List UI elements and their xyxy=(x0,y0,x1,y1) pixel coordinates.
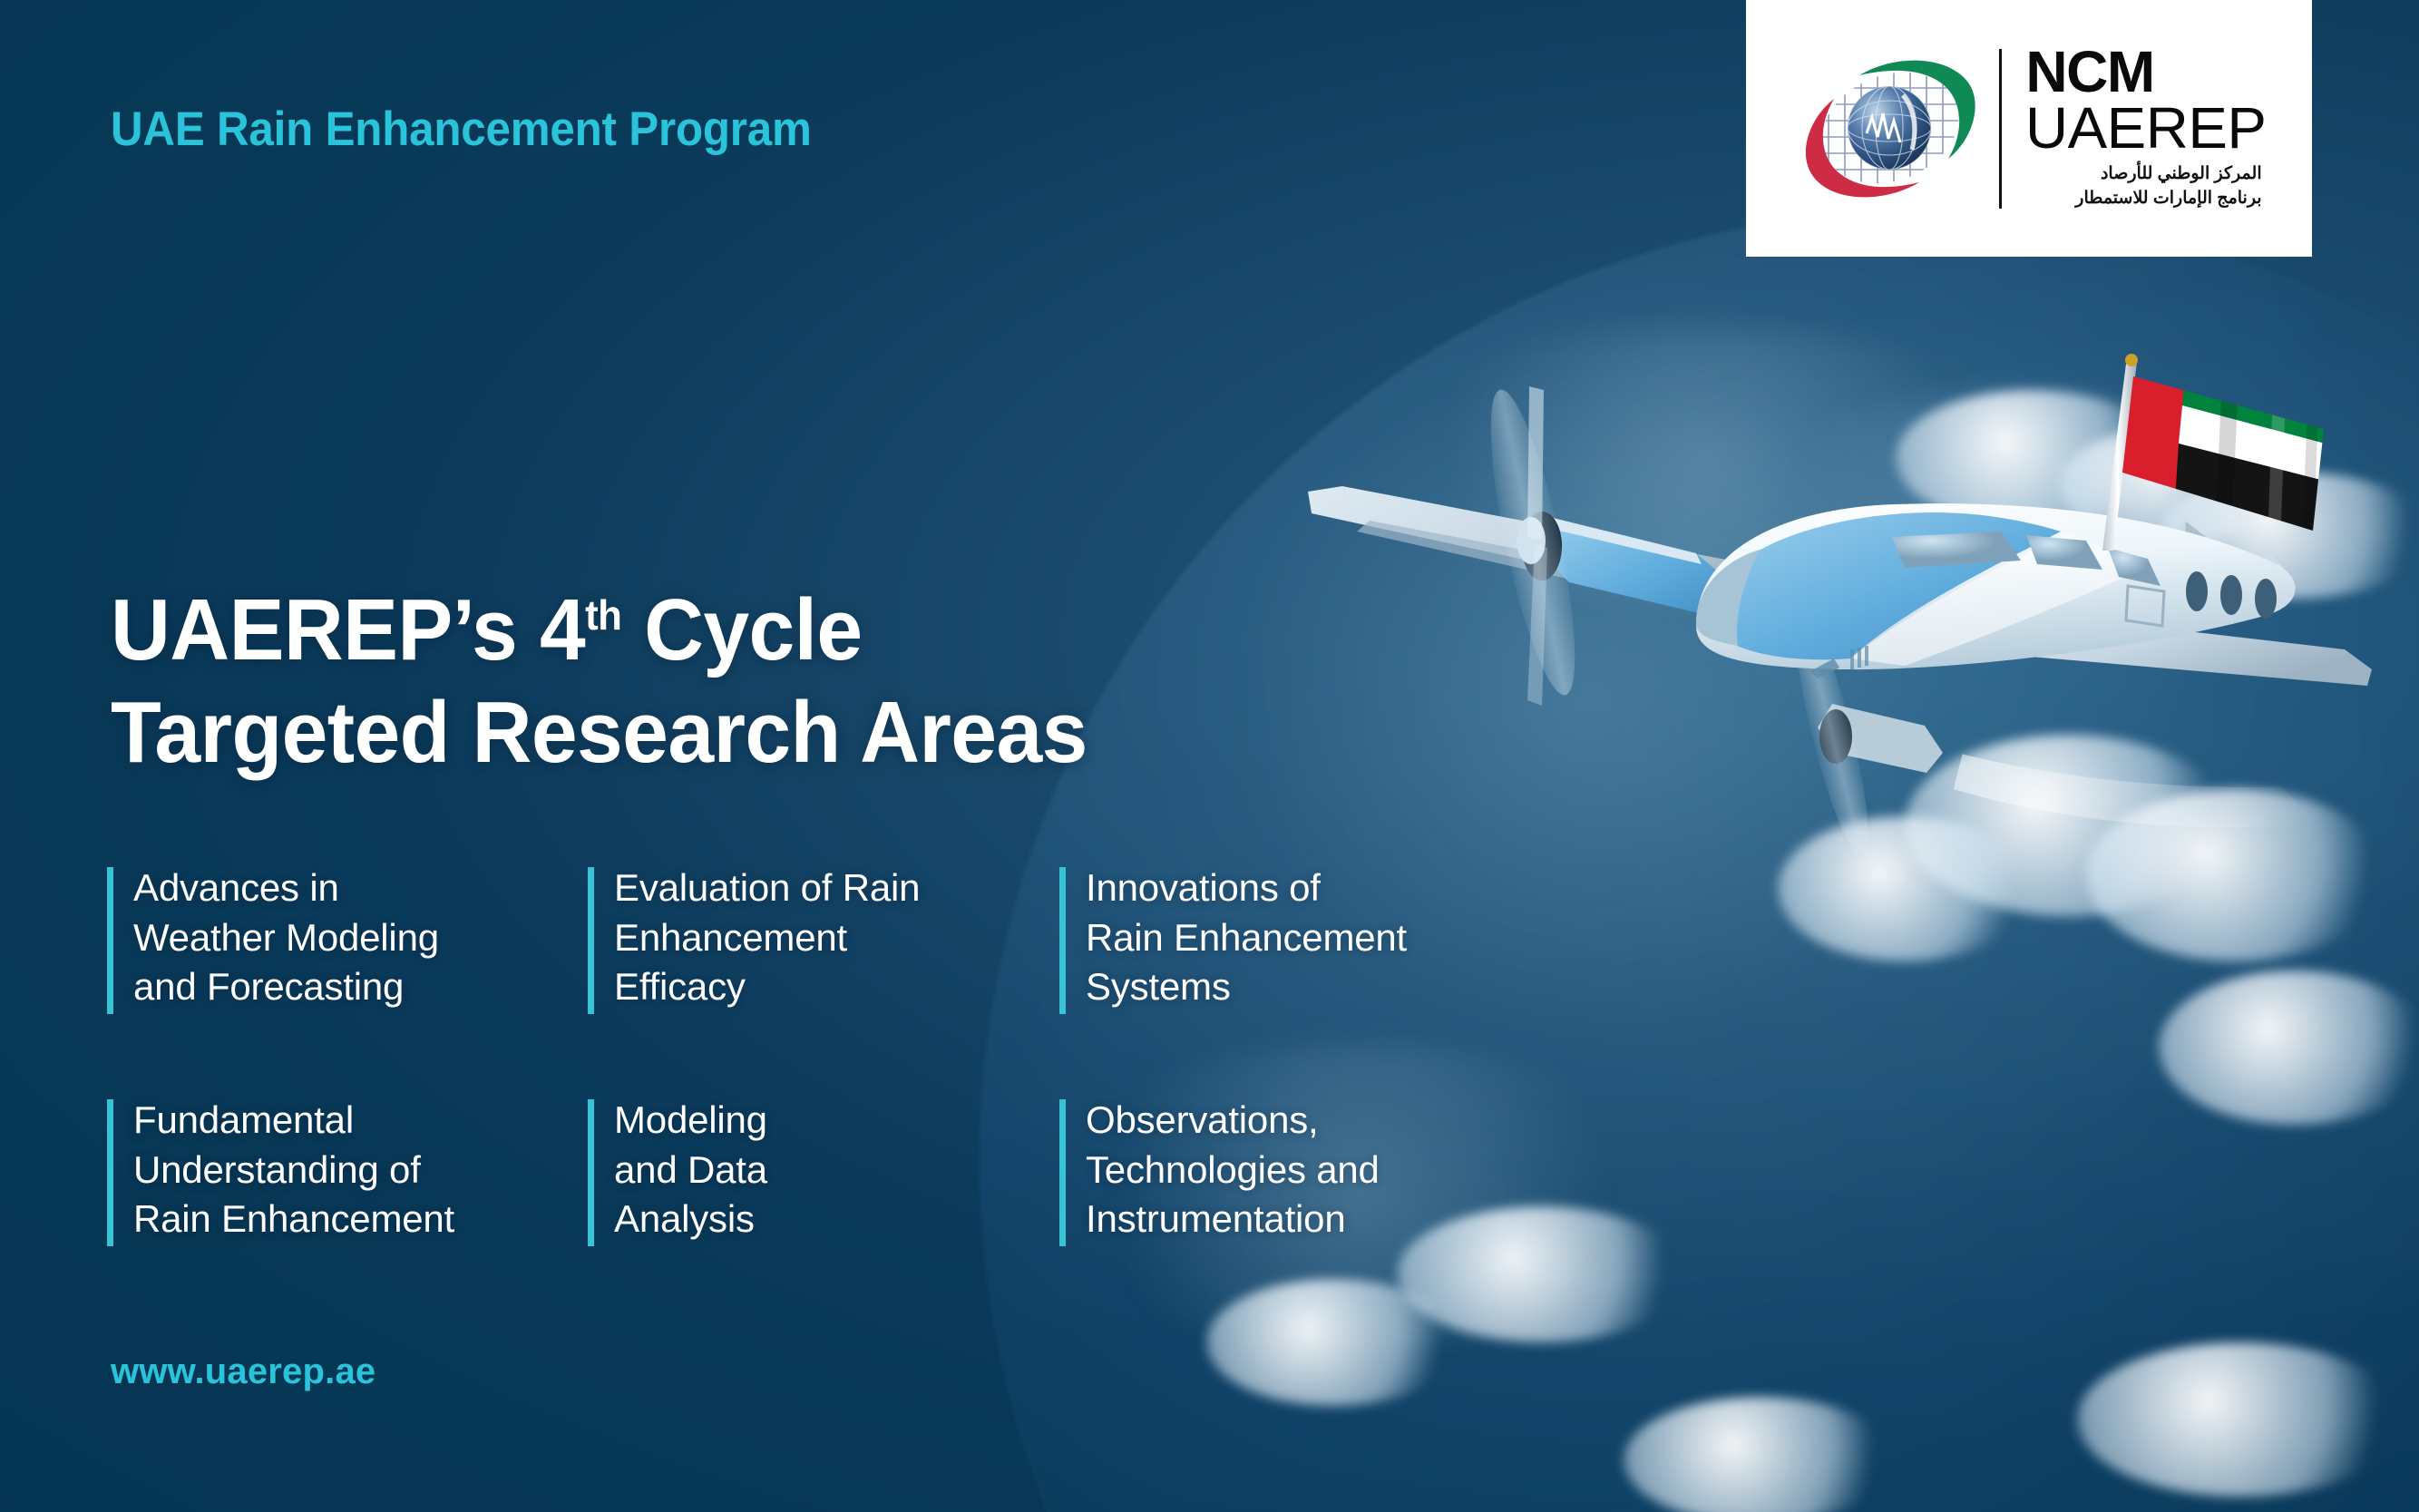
research-area-item: Fundamental Understanding of Rain Enhanc… xyxy=(107,1096,588,1246)
headline-line-1: UAEREP’s 4th Cycle xyxy=(111,579,1088,681)
research-area-label: Innovations of Rain Enhancement Systems xyxy=(1086,863,1407,1012)
headline-prefix: UAEREP’s 4 xyxy=(111,581,585,678)
headline-line-2: Targeted Research Areas xyxy=(111,681,1088,784)
page-title: UAEREP’s 4th Cycle Targeted Research Are… xyxy=(111,579,1088,785)
research-area-label: Fundamental Understanding of Rain Enhanc… xyxy=(133,1096,454,1244)
ncm-globe-swoosh-icon xyxy=(1796,44,1983,213)
accent-bar-icon xyxy=(1059,1099,1066,1246)
cloud-puff xyxy=(2077,1342,2404,1497)
cloud-puff xyxy=(1624,1397,1896,1512)
research-area-label: Observations, Technologies and Instrumen… xyxy=(1086,1096,1380,1244)
logo-arabic-line1: المركز الوطني للأرصاد xyxy=(2025,161,2261,187)
headline-suffix: Cycle xyxy=(621,581,862,678)
headline-superscript: th xyxy=(585,591,621,639)
research-area-item: Evaluation of Rain Enhancement Efficacy xyxy=(588,863,1059,1014)
logo-arabic-line2: برنامج الإمارات للاستمطار xyxy=(2025,186,2261,211)
accent-bar-icon xyxy=(588,867,594,1014)
accent-bar-icon xyxy=(588,1099,594,1246)
accent-bar-icon xyxy=(107,867,113,1014)
research-area-item: Observations, Technologies and Instrumen… xyxy=(1059,1096,1567,1246)
poster-canvas: UAE Rain Enhancement Program xyxy=(0,0,2419,1512)
ncm-uaerep-logo[interactable]: NCM UAEREP المركز الوطني للأرصاد برنامج … xyxy=(1746,0,2312,257)
accent-bar-icon xyxy=(107,1099,113,1246)
accent-bar-icon xyxy=(1059,867,1066,1014)
logo-ncm-text: NCM xyxy=(2025,45,2261,99)
logo-wordmark: NCM UAEREP المركز الوطني للأرصاد برنامج … xyxy=(2025,45,2261,211)
website-link[interactable]: www.uaerep.ae xyxy=(111,1351,376,1392)
logo-divider xyxy=(1999,49,2002,209)
research-area-label: Evaluation of Rain Enhancement Efficacy xyxy=(614,863,920,1012)
research-areas-grid: Advances in Weather Modeling and Forecas… xyxy=(107,863,1613,1246)
research-area-label: Modeling and Data Analysis xyxy=(614,1096,767,1244)
logo-uaerep-text: UAEREP xyxy=(2025,99,2266,157)
uae-flag xyxy=(2086,349,2367,558)
research-area-item: Modeling and Data Analysis xyxy=(588,1096,1059,1246)
program-title: UAE Rain Enhancement Program xyxy=(111,102,812,157)
research-area-item: Advances in Weather Modeling and Forecas… xyxy=(107,863,588,1014)
cloud-puff xyxy=(2159,971,2419,1125)
research-area-item: Innovations of Rain Enhancement Systems xyxy=(1059,863,1567,1014)
research-area-label: Advances in Weather Modeling and Forecas… xyxy=(133,863,439,1012)
